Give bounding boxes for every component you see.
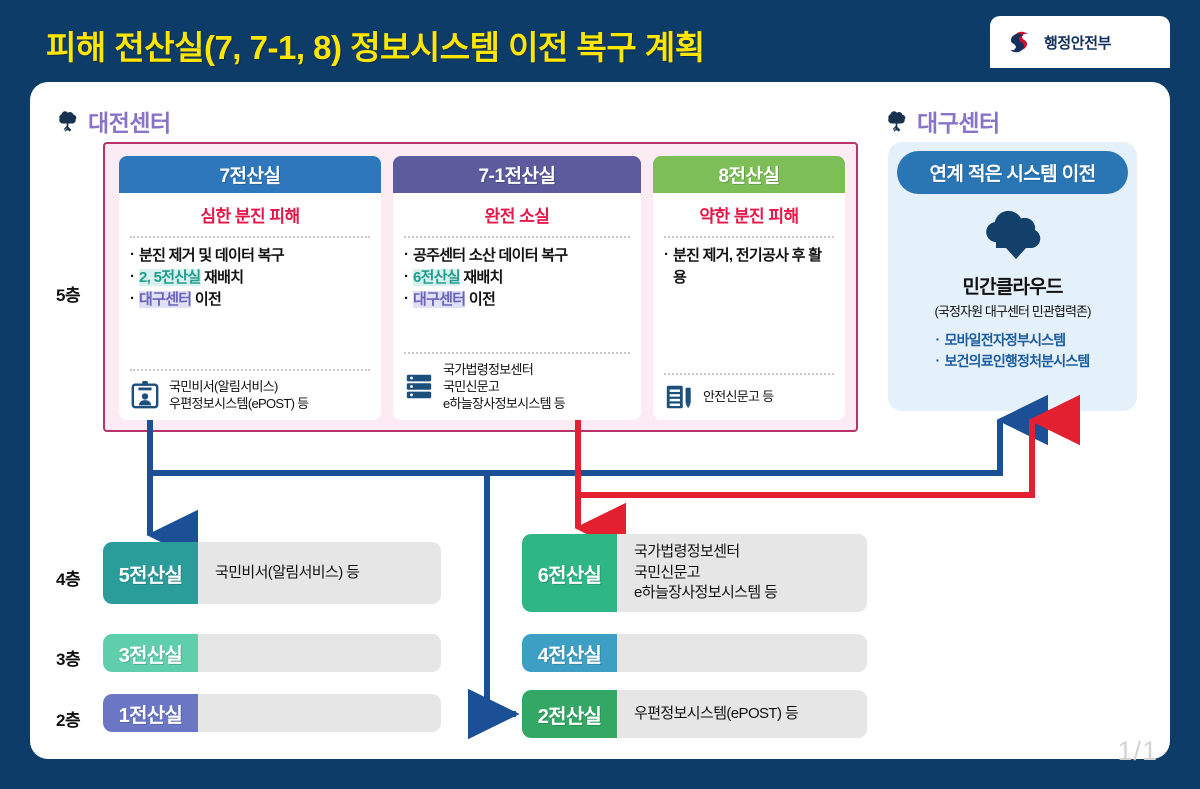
divider xyxy=(664,236,834,238)
ministry-name: 행정안전부 xyxy=(1044,32,1111,53)
room-chip-5: 5전산실 xyxy=(103,542,198,604)
page-indicator: 1/1 xyxy=(1117,736,1158,767)
room-chip-6: 6전산실 xyxy=(522,534,617,612)
title-plate: 피해 전산실(7, 7-1, 8) 정보시스템 이전 복구 계획 xyxy=(30,14,721,76)
id-badge-icon xyxy=(130,380,160,410)
floor-label-4f: 4층 xyxy=(56,565,80,590)
system-name: 국가법령정보센터 xyxy=(443,361,565,378)
header-bar: 피해 전산실(7, 7-1, 8) 정보시스템 이전 복구 계획 행정안전부 xyxy=(0,0,1200,86)
slide-frame: 피해 전산실(7, 7-1, 8) 정보시스템 이전 복구 계획 행정안전부 대… xyxy=(0,0,1200,789)
room-card-7-1-damage: 완전 소실 xyxy=(404,202,630,227)
bullet-item: 분진 제거, 전기공사 후 활용 xyxy=(664,245,834,289)
room-card-7-1-systems: 국가법령정보센터 국민신문고 e하늘장사정보시스템 등 xyxy=(404,361,630,412)
room-card-7-bullets: 분진 제거 및 데이터 복구 2, 5전산실 재배치 대구센터 이전 xyxy=(130,245,370,367)
divider xyxy=(404,352,630,354)
room-systems-3 xyxy=(198,634,441,672)
daegu-system-list: 모바일전자정부시스템 보건의료인행정처분시스템 xyxy=(936,330,1090,372)
room-chip-1: 1전산실 xyxy=(103,694,198,732)
room-card-8-systems: 안전신문고 등 xyxy=(664,382,834,412)
bullet-item: 공주센터 소산 데이터 복구 xyxy=(404,245,630,267)
cloud-sync-icon xyxy=(980,208,1046,264)
system-list: 국가법령정보센터 국민신문고 e하늘장사정보시스템 등 xyxy=(443,361,565,412)
room-systems-4 xyxy=(617,634,867,672)
room-systems-1 xyxy=(198,694,441,732)
room-chip-2: 2전산실 xyxy=(522,690,617,738)
room-card-8-header: 8전산실 xyxy=(653,156,845,193)
server-rack-icon xyxy=(404,371,434,401)
daegu-system-item: 보건의료인행정처분시스템 xyxy=(936,351,1090,372)
damaged-rooms-container: 7전산실 심한 분진 피해 분진 제거 및 데이터 복구 2, 5전산실 재배치… xyxy=(103,142,858,432)
floor-row-4[interactable]: 4전산실 xyxy=(522,634,867,672)
system-list: 국민비서(알림서비스) 우편정보시스템(ePOST) 등 xyxy=(169,378,308,412)
system-name: 우편정보시스템(ePOST) 등 xyxy=(169,395,308,412)
room-card-8-bullets: 분진 제거, 전기공사 후 활용 xyxy=(664,245,834,371)
system-name: 안전신문고 등 xyxy=(703,388,773,405)
floor-label-2f: 2층 xyxy=(56,706,80,731)
room-card-8-damage: 약한 분진 피해 xyxy=(664,202,834,227)
floor-row-5[interactable]: 5전산실 국민비서(알림서비스) 등 xyxy=(103,542,441,604)
room-card-8[interactable]: 8전산실 약한 분진 피해 분진 제거, 전기공사 후 활용 xyxy=(653,156,845,420)
divider xyxy=(404,236,630,238)
ministry-logo-plate: 행정안전부 xyxy=(990,16,1170,68)
room-systems-2: 우편정보시스템(ePOST) 등 xyxy=(617,690,867,738)
daejeon-center-title: 대전센터 xyxy=(55,104,171,138)
daegu-center-panel[interactable]: 연계 적은 시스템 이전 민간클라우드 (국정자원 대구센터 민관협력존) 모바… xyxy=(888,142,1137,411)
room-card-7[interactable]: 7전산실 심한 분진 피해 분진 제거 및 데이터 복구 2, 5전산실 재배치… xyxy=(119,156,381,420)
floor-row-6[interactable]: 6전산실 국가법령정보센터 국민신문고 e하늘장사정보시스템 등 xyxy=(522,534,867,612)
divider xyxy=(130,369,370,371)
system-name: e하늘장사정보시스템 등 xyxy=(443,395,565,412)
system-list: 안전신문고 등 xyxy=(703,388,773,405)
daegu-center-label: 대구센터 xyxy=(917,104,1000,138)
room-systems-6: 국가법령정보센터 국민신문고 e하늘장사정보시스템 등 xyxy=(617,534,867,612)
room-card-7-1[interactable]: 7-1전산실 완전 소실 공주센터 소산 데이터 복구 6전산실 재배치 대구센… xyxy=(393,156,641,420)
bullet-item: 분진 제거 및 데이터 복구 xyxy=(130,245,370,267)
daegu-system-item: 모바일전자정부시스템 xyxy=(936,330,1090,351)
tree-icon xyxy=(55,110,80,132)
taegeuk-icon xyxy=(1004,27,1034,57)
document-pencil-icon xyxy=(664,382,694,412)
divider xyxy=(130,236,370,238)
divider xyxy=(664,373,834,375)
floor-label-5f: 5층 xyxy=(56,281,80,306)
room-card-7-1-header: 7-1전산실 xyxy=(393,156,641,193)
room-chip-3: 3전산실 xyxy=(103,634,198,672)
room-card-7-systems: 국민비서(알림서비스) 우편정보시스템(ePOST) 등 xyxy=(130,378,370,412)
daegu-pill-label: 연계 적은 시스템 이전 xyxy=(897,151,1128,194)
floor-label-3f: 3층 xyxy=(56,645,80,670)
bullet-item: 대구센터 이전 xyxy=(404,289,630,311)
system-name: 국민비서(알림서비스) xyxy=(169,378,308,395)
room-systems-5: 국민비서(알림서비스) 등 xyxy=(198,542,441,604)
floor-row-3[interactable]: 3전산실 xyxy=(103,634,441,672)
floor-row-1[interactable]: 1전산실 xyxy=(103,694,441,732)
room-card-7-header: 7전산실 xyxy=(119,156,381,193)
daegu-center-title: 대구센터 xyxy=(884,104,1000,138)
room-chip-4: 4전산실 xyxy=(522,634,617,672)
floor-row-2[interactable]: 2전산실 우편정보시스템(ePOST) 등 xyxy=(522,690,867,738)
page-title: 피해 전산실(7, 7-1, 8) 정보시스템 이전 복구 계획 xyxy=(46,21,705,69)
daejeon-center-label: 대전센터 xyxy=(88,104,171,138)
cloud-subtitle: (국정자원 대구센터 민관협력존) xyxy=(934,301,1090,320)
cloud-title: 민간클라우드 xyxy=(962,272,1062,299)
bullet-item: 2, 5전산실 재배치 xyxy=(130,267,370,289)
tree-icon xyxy=(884,110,909,132)
bullet-item: 6전산실 재배치 xyxy=(404,267,630,289)
bullet-item: 대구센터 이전 xyxy=(130,289,370,311)
room-card-7-1-bullets: 공주센터 소산 데이터 복구 6전산실 재배치 대구센터 이전 xyxy=(404,245,630,350)
system-name: 국민신문고 xyxy=(443,378,565,395)
room-card-7-damage: 심한 분진 피해 xyxy=(130,202,370,227)
